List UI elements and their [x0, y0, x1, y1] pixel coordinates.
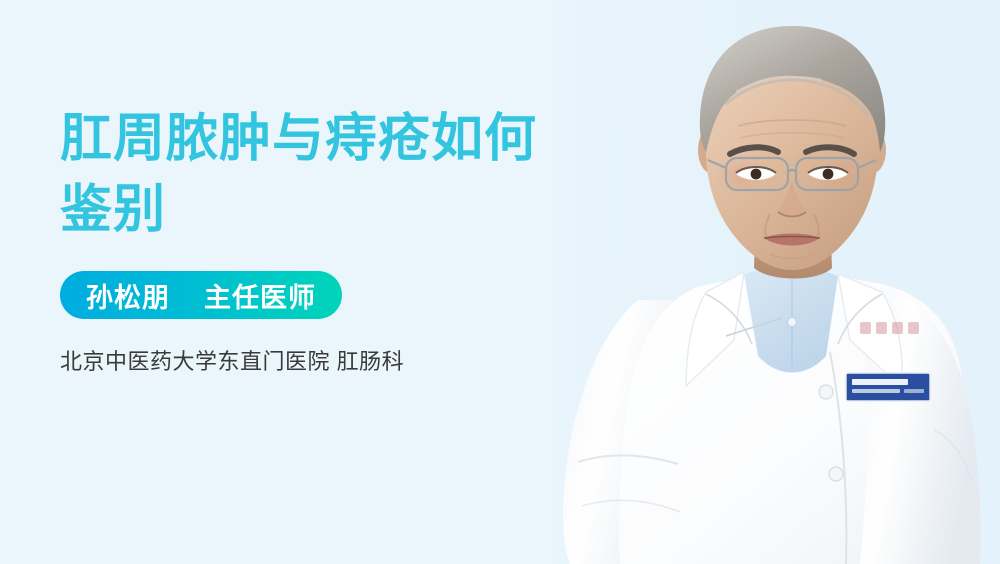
video-title: 肛周脓肿与痔疮如何 鉴别	[60, 104, 680, 245]
doctor-credential-badge: 孙松朋 主任医师	[60, 271, 342, 319]
text-content-column: 肛周脓肿与痔疮如何 鉴别 孙松朋 主任医师 北京中医药大学东直门医院 肛肠科	[60, 104, 680, 376]
doctor-video-thumbnail-card: 肛周脓肿与痔疮如何 鉴别 孙松朋 主任医师 北京中医药大学东直门医院 肛肠科	[0, 0, 1000, 564]
hospital-affiliation: 北京中医药大学东直门医院 肛肠科	[60, 344, 680, 376]
doctor-title: 主任医师	[204, 276, 316, 315]
doctor-id-badge	[846, 373, 930, 401]
doctor-badge-wrapper: 孙松朋 主任医师	[60, 271, 680, 319]
doctor-name: 孙松朋	[86, 276, 170, 315]
